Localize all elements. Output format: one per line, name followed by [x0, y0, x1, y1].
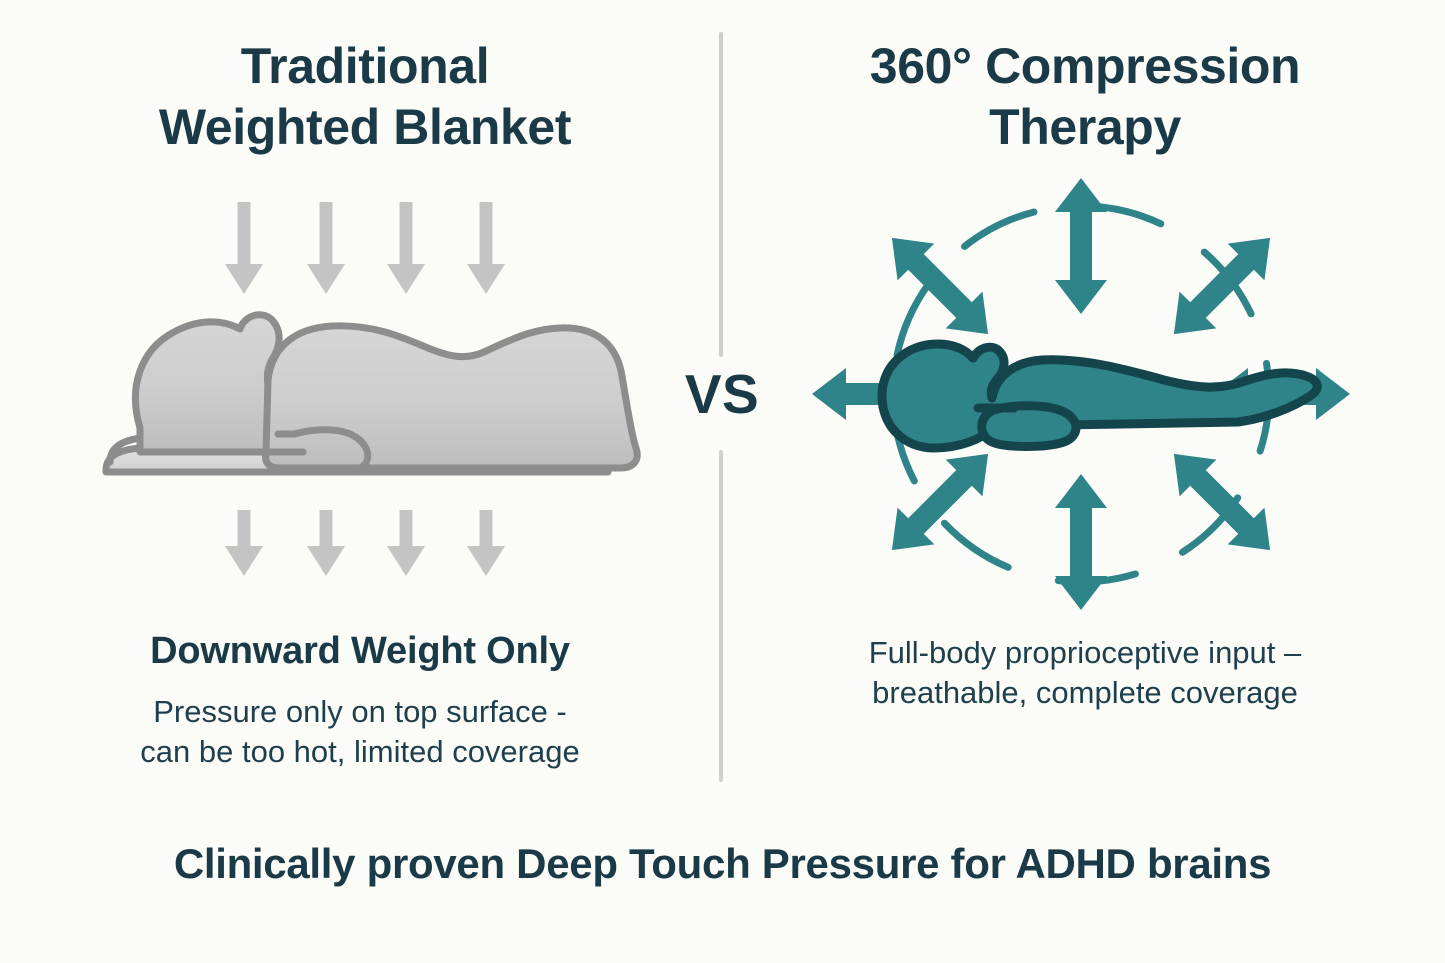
right-caption-subtitle: Full-body proprioceptive input – breatha…: [755, 633, 1415, 714]
downward-arrow-group-top: [225, 202, 505, 294]
traditional-weighted-blanket-illustration: [88, 180, 668, 600]
arrow-diagonal-icon-bottom-right: [1156, 436, 1289, 569]
arrow-diagonal-icon-top-left: [874, 220, 1007, 353]
arrow-diagonal-icon-bottom-left: [874, 436, 1007, 569]
compression-therapy-illustration: [798, 168, 1364, 620]
downward-arrow-icon: [467, 510, 505, 576]
infographic-canvas: Traditional Weighted Blanket 360° Compre…: [0, 0, 1445, 963]
divider-line-top: [719, 32, 723, 357]
left-caption-title: Downward Weight Only: [30, 630, 690, 673]
left-caption-sub-line-1: Pressure only on top surface -: [30, 692, 690, 732]
downward-arrow-icon: [225, 202, 263, 294]
right-heading-line-2: Therapy: [760, 97, 1410, 158]
right-caption-sub-line-2: breathable, complete coverage: [755, 673, 1415, 713]
left-heading-line-1: Traditional: [40, 36, 690, 97]
arrow-up-down-icon-bottom: [1055, 474, 1107, 610]
vs-label: VS: [660, 362, 784, 426]
left-column-heading: Traditional Weighted Blanket: [40, 36, 690, 158]
divider-line-bottom: [719, 450, 723, 782]
sleeping-person-figure-gray: [106, 315, 637, 472]
footer-note: Clinically proven Deep Touch Pressure fo…: [0, 840, 1445, 888]
right-heading-line-1: 360° Compression: [760, 36, 1410, 97]
downward-arrow-icon: [225, 510, 263, 576]
left-caption-sub-line-2: can be too hot, limited coverage: [30, 732, 690, 772]
downward-arrow-icon: [467, 202, 505, 294]
downward-arrow-group-bottom: [225, 510, 505, 576]
arrow-diagonal-icon-top-right: [1156, 220, 1289, 353]
left-caption-subtitle: Pressure only on top surface - can be to…: [30, 692, 690, 773]
right-column-heading: 360° Compression Therapy: [760, 36, 1410, 158]
downward-arrow-icon: [387, 202, 425, 294]
downward-arrow-icon: [307, 510, 345, 576]
downward-arrow-icon: [387, 510, 425, 576]
downward-arrow-icon: [307, 202, 345, 294]
arrow-up-down-icon-top: [1055, 178, 1107, 314]
right-caption-sub-line-1: Full-body proprioceptive input –: [755, 633, 1415, 673]
left-heading-line-2: Weighted Blanket: [40, 97, 690, 158]
sleeping-person-figure-teal: [882, 344, 1317, 448]
